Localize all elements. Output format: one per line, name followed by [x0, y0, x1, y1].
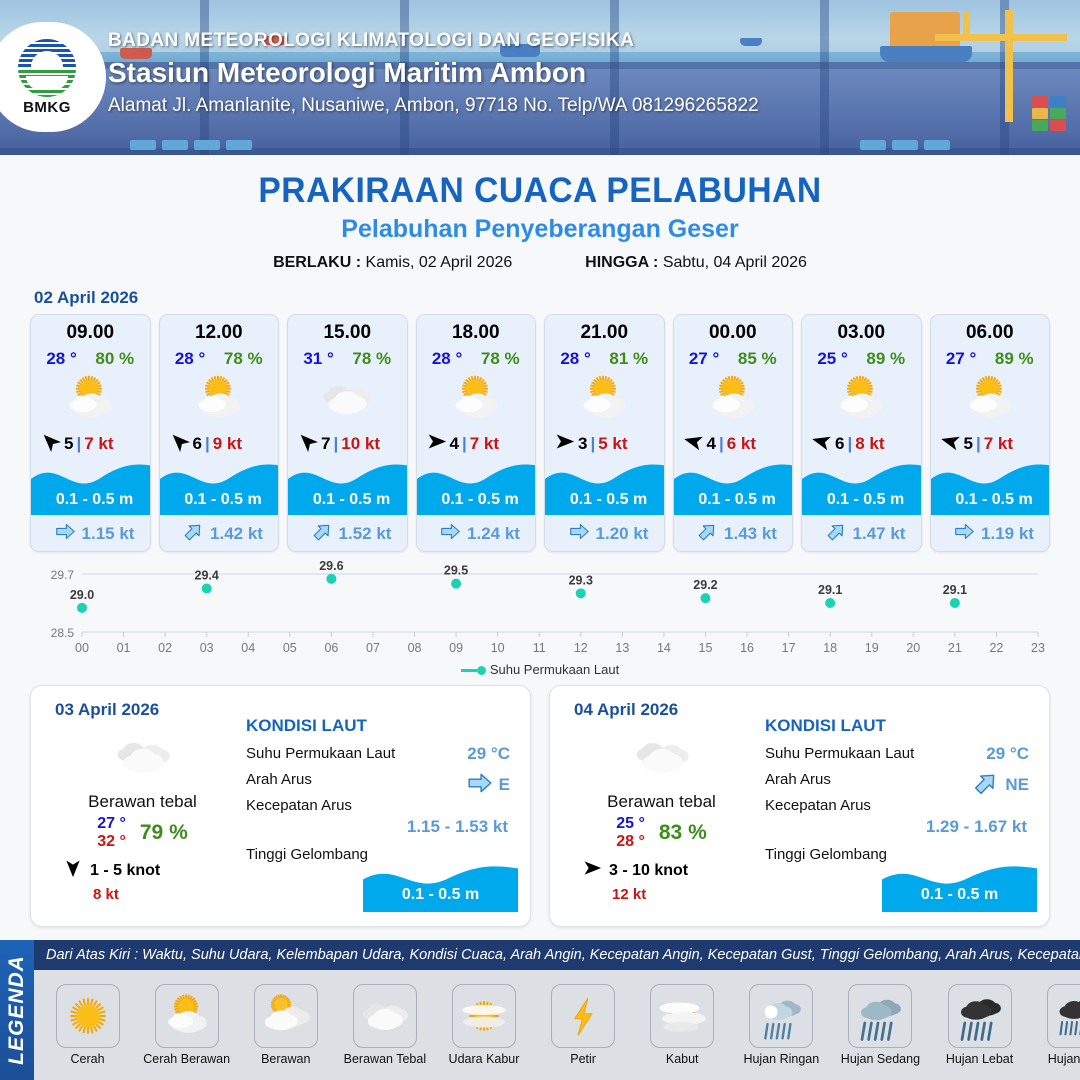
card-temperature: 25 °: [817, 349, 847, 369]
card-separator: |: [205, 434, 210, 454]
sst-label: Suhu Permukaan Laut: [765, 745, 914, 762]
card-wave-block: 0.1 - 0.5 m: [545, 453, 665, 515]
svg-text:11: 11: [533, 641, 546, 655]
current-direction-arrow-icon: [312, 521, 333, 547]
card-current-speed: 1.24 kt: [467, 524, 520, 544]
svg-text:07: 07: [366, 641, 380, 655]
legend-weather-icon: [452, 984, 516, 1048]
svg-text:00: 00: [75, 641, 89, 655]
card-current-speed: 1.43 kt: [724, 524, 777, 544]
card-current-speed: 1.52 kt: [339, 524, 392, 544]
card-humidity: 80 %: [95, 349, 134, 369]
current-direction-arrow-icon: [440, 521, 461, 547]
card-wind-speed: 3: [578, 434, 587, 454]
card-humidity: 78 %: [352, 349, 391, 369]
card-time: 15.00: [288, 322, 407, 344]
hourly-forecast-card: 03.00 25 ° 89 % 6 | 8 kt 0.1 - 0.5 m 1.4…: [801, 314, 922, 552]
legend-note: Dari Atas Kiri : Waktu, Suhu Udara, Kele…: [34, 940, 1080, 970]
day-temp-max: 32 °: [97, 833, 126, 851]
card-current-block: 1.15 kt: [31, 521, 151, 547]
card-separator: |: [333, 434, 338, 454]
card-weather-icon: [674, 371, 793, 427]
card-wave-height: 0.1 - 0.5 m: [31, 491, 151, 509]
svg-text:21: 21: [948, 641, 962, 655]
berlaku-label: BERLAKU :: [273, 254, 361, 271]
card-weather-icon: [931, 371, 1050, 427]
svg-text:01: 01: [117, 641, 131, 655]
svg-text:20: 20: [906, 641, 920, 655]
daily-forecast-panel: 04 April 2026 Berawan tebal 25 ° 28 ° 83…: [549, 685, 1050, 927]
card-wind-speed: 5: [64, 434, 73, 454]
day-weather-icon: [564, 728, 759, 786]
sea-conditions-title: KONDISI LAUT: [246, 716, 516, 736]
legend-item-label: Cerah: [43, 1052, 133, 1066]
day-summary: Berawan tebal 25 ° 28 ° 83 % 3 - 10 knot…: [564, 728, 759, 903]
hingga-label: HINGGA :: [585, 254, 658, 271]
card-current-speed: 1.42 kt: [210, 524, 263, 544]
card-separator: |: [76, 434, 81, 454]
legend-item-label: Kabut: [637, 1052, 727, 1066]
current-direction-arrow-icon: [569, 521, 590, 547]
legend-item: Hujan Sedang: [835, 984, 925, 1066]
forecast-date-label: 02 April 2026: [34, 288, 1080, 308]
sst-value: 29 °C: [986, 744, 1029, 764]
svg-text:29.7: 29.7: [51, 568, 75, 582]
legend-item-label: Petir: [538, 1052, 628, 1066]
sst-chart: 29.728.500010203040506070809101112131415…: [30, 560, 1050, 660]
svg-text:29.3: 29.3: [569, 573, 593, 587]
card-weather-icon: [417, 371, 536, 427]
card-wind-speed: 6: [835, 434, 844, 454]
day-date: 04 April 2026: [574, 700, 678, 720]
card-current-speed: 1.19 kt: [981, 524, 1034, 544]
day-current-direction-arrow-icon: [467, 770, 493, 800]
page-subtitle: Pelabuhan Penyeberangan Geser: [0, 215, 1080, 244]
svg-text:10: 10: [491, 641, 505, 655]
card-wave-height: 0.1 - 0.5 m: [288, 491, 408, 509]
wave-height-label: Tinggi Gelombang: [246, 846, 368, 863]
current-direction-value: E: [499, 775, 510, 795]
bmkg-logo-mark: [18, 39, 76, 97]
sea-conditions-title: KONDISI LAUT: [765, 716, 1035, 736]
daily-forecast-row: 03 April 2026 Berawan tebal 27 ° 32 ° 79…: [0, 677, 1080, 927]
card-weather-icon: [31, 371, 150, 427]
svg-text:29.1: 29.1: [943, 583, 967, 597]
current-direction-arrow-icon: [55, 521, 76, 547]
card-current-speed: 1.47 kt: [853, 524, 906, 544]
card-wave-block: 0.1 - 0.5 m: [417, 453, 537, 515]
svg-text:15: 15: [699, 641, 713, 655]
svg-text:29.2: 29.2: [693, 578, 717, 592]
svg-text:12: 12: [574, 641, 588, 655]
card-current-block: 1.42 kt: [160, 521, 280, 547]
svg-text:19: 19: [865, 641, 879, 655]
legend-bar: LEGENDA Dari Atas Kiri : Waktu, Suhu Uda…: [0, 940, 1080, 1080]
legend-item: Berawan: [241, 984, 331, 1066]
page-header: BMKG BADAN METEOROLOGI KLIMATOLOGI DAN G…: [0, 0, 1080, 155]
day-condition: Berawan tebal: [45, 792, 240, 812]
day-wave-block: 0.1 - 0.5 m: [363, 856, 518, 912]
card-current-block: 1.24 kt: [417, 521, 537, 547]
current-direction-arrow-icon: [183, 521, 204, 547]
legend-item-label: Hujan Sedang: [835, 1052, 925, 1066]
card-wind-speed: 5: [964, 434, 973, 454]
legend-item-label: Hujan Ringan: [736, 1052, 826, 1066]
station-address: Alamat Jl. Amanlanite, Nusaniwe, Ambon, …: [108, 95, 759, 117]
svg-text:13: 13: [615, 641, 629, 655]
legend-item-label: Berawan: [241, 1052, 331, 1066]
card-wave-block: 0.1 - 0.5 m: [931, 453, 1051, 515]
card-humidity: 78 %: [481, 349, 520, 369]
card-gust: 10 kt: [341, 434, 380, 454]
card-wave-block: 0.1 - 0.5 m: [31, 453, 151, 515]
hourly-forecast-card: 18.00 28 ° 78 % 4 | 7 kt 0.1 - 0.5 m 1.2…: [416, 314, 537, 552]
card-separator: |: [847, 434, 852, 454]
sst-chart-legend: Suhu Permukaan Laut: [0, 662, 1080, 677]
svg-text:22: 22: [989, 641, 1003, 655]
card-temperature: 31 °: [303, 349, 333, 369]
svg-text:05: 05: [283, 641, 297, 655]
station-name: Stasiun Meteorologi Maritim Ambon: [108, 57, 759, 89]
agency-name: BADAN METEOROLOGI KLIMATOLOGI DAN GEOFIS…: [108, 30, 759, 52]
day-weather-icon: [45, 728, 240, 786]
svg-text:18: 18: [823, 641, 837, 655]
day-gust: 8 kt: [45, 886, 240, 903]
card-wave-height: 0.1 - 0.5 m: [417, 491, 537, 509]
card-current-block: 1.20 kt: [545, 521, 665, 547]
hourly-forecast-card: 21.00 28 ° 81 % 3 | 5 kt 0.1 - 0.5 m 1.2…: [544, 314, 665, 552]
legend-item: Cerah: [43, 984, 133, 1066]
card-temperature: 28 °: [175, 349, 205, 369]
day-wind-range: 3 - 10 knot: [609, 862, 688, 880]
svg-text:29.4: 29.4: [195, 569, 219, 583]
card-weather-icon: [288, 371, 407, 427]
day-temp-min: 27 °: [97, 815, 126, 833]
legend-item: Hujan Lebat: [935, 984, 1025, 1066]
svg-text:16: 16: [740, 641, 754, 655]
svg-text:28.5: 28.5: [51, 626, 75, 640]
hourly-forecast-row: 09.00 28 ° 80 % 5 | 7 kt 0.1 - 0.5 m 1.1…: [0, 314, 1080, 552]
legend-weather-icon: [353, 984, 417, 1048]
card-wave-height: 0.1 - 0.5 m: [160, 491, 280, 509]
card-temperature: 27 °: [946, 349, 976, 369]
legend-weather-icon: [948, 984, 1012, 1048]
legend-weather-icon: [551, 984, 615, 1048]
svg-text:08: 08: [408, 641, 422, 655]
day-wave-height: 0.1 - 0.5 m: [363, 886, 518, 904]
hingga-value: Sabtu, 04 April 2026: [663, 254, 807, 271]
card-current-speed: 1.20 kt: [596, 524, 649, 544]
current-direction-arrow-icon: [826, 521, 847, 547]
card-weather-icon: [545, 371, 664, 427]
wave-height-label: Tinggi Gelombang: [765, 846, 887, 863]
card-gust: 7 kt: [84, 434, 113, 454]
current-speed-label: Kecepatan Arus: [246, 797, 352, 814]
hourly-forecast-card: 12.00 28 ° 78 % 6 | 9 kt 0.1 - 0.5 m 1.4…: [159, 314, 280, 552]
legend-side-title: LEGENDA: [0, 940, 34, 1080]
card-wave-height: 0.1 - 0.5 m: [545, 491, 665, 509]
card-time: 21.00: [545, 322, 664, 344]
card-current-block: 1.43 kt: [674, 521, 794, 547]
card-separator: |: [462, 434, 467, 454]
svg-text:29.6: 29.6: [319, 560, 343, 573]
legend-item: Berawan Tebal: [340, 984, 430, 1066]
card-time: 18.00: [417, 322, 536, 344]
card-time: 06.00: [931, 322, 1050, 344]
day-current-direction-arrow-icon: [973, 770, 999, 800]
legend-item: Udara Kabur: [439, 984, 529, 1066]
current-direction-label: Arah Arus: [765, 771, 831, 788]
legend-icon-row: Cerah Cerah Berawan Berawan Berawan Teba…: [34, 970, 1080, 1080]
hourly-forecast-card: 06.00 27 ° 89 % 5 | 7 kt 0.1 - 0.5 m 1.1…: [930, 314, 1051, 552]
day-wind-direction-arrow-icon: [582, 858, 602, 883]
sst-chart-svg: 29.728.500010203040506070809101112131415…: [30, 560, 1050, 660]
card-gust: 9 kt: [213, 434, 242, 454]
day-humidity: 83 %: [659, 821, 707, 845]
svg-text:06: 06: [324, 641, 338, 655]
sst-legend-dot: [477, 666, 486, 675]
day-humidity: 79 %: [140, 821, 188, 845]
card-current-block: 1.19 kt: [931, 521, 1051, 547]
svg-text:29.1: 29.1: [818, 583, 842, 597]
hourly-forecast-card: 15.00 31 ° 78 % 7 | 10 kt 0.1 - 0.5 m 1.…: [287, 314, 408, 552]
legend-item: Hujan Petir: [1034, 984, 1080, 1066]
card-temperature: 28 °: [46, 349, 76, 369]
card-humidity: 78 %: [224, 349, 263, 369]
day-summary: Berawan tebal 27 ° 32 ° 79 % 1 - 5 knot …: [45, 728, 240, 903]
card-humidity: 81 %: [609, 349, 648, 369]
card-wave-block: 0.1 - 0.5 m: [674, 453, 794, 515]
svg-text:09: 09: [449, 641, 463, 655]
page-title: PRAKIRAAN CUACA PELABUHAN: [22, 171, 1059, 211]
svg-text:17: 17: [782, 641, 796, 655]
card-wind-speed: 4: [450, 434, 459, 454]
legend-weather-icon: [254, 984, 318, 1048]
card-time: 12.00: [160, 322, 279, 344]
card-current-block: 1.47 kt: [802, 521, 922, 547]
legend-weather-icon: [848, 984, 912, 1048]
card-wave-block: 0.1 - 0.5 m: [802, 453, 922, 515]
legend-item: Petir: [538, 984, 628, 1066]
legend-item-label: Hujan Lebat: [935, 1052, 1025, 1066]
day-wind-direction-arrow-icon: [63, 858, 83, 883]
card-current-speed: 1.15 kt: [82, 524, 135, 544]
card-temperature: 27 °: [689, 349, 719, 369]
sst-value: 29 °C: [467, 744, 510, 764]
card-wave-height: 0.1 - 0.5 m: [674, 491, 794, 509]
svg-text:14: 14: [657, 641, 671, 655]
current-direction-label: Arah Arus: [246, 771, 312, 788]
card-separator: |: [719, 434, 724, 454]
card-weather-icon: [802, 371, 921, 427]
card-gust: 8 kt: [855, 434, 884, 454]
svg-text:23: 23: [1031, 641, 1045, 655]
current-speed-value: 1.29 - 1.67 kt: [765, 817, 1035, 837]
current-speed-value: 1.15 - 1.53 kt: [246, 817, 516, 837]
svg-text:03: 03: [200, 641, 214, 655]
card-wave-block: 0.1 - 0.5 m: [288, 453, 408, 515]
card-time: 09.00: [31, 322, 150, 344]
day-wave-block: 0.1 - 0.5 m: [882, 856, 1037, 912]
card-time: 00.00: [674, 322, 793, 344]
current-direction-arrow-icon: [697, 521, 718, 547]
card-weather-icon: [160, 371, 279, 427]
sst-legend-line: [461, 669, 477, 672]
validity-row: BERLAKU : Kamis, 02 April 2026 HINGGA : …: [0, 254, 1080, 272]
legend-item-label: Berawan Tebal: [340, 1052, 430, 1066]
card-humidity: 89 %: [995, 349, 1034, 369]
day-sea-conditions: KONDISI LAUT Suhu Permukaan Laut 29 °C A…: [246, 716, 516, 863]
card-gust: 7 kt: [470, 434, 499, 454]
legend-item: Hujan Ringan: [736, 984, 826, 1066]
legend-item-label: Cerah Berawan: [142, 1052, 232, 1066]
card-gust: 5 kt: [598, 434, 627, 454]
day-date: 03 April 2026: [55, 700, 159, 720]
legend-item: Kabut: [637, 984, 727, 1066]
legend-weather-icon: [749, 984, 813, 1048]
hourly-forecast-card: 00.00 27 ° 85 % 4 | 6 kt 0.1 - 0.5 m 1.4…: [673, 314, 794, 552]
sst-legend-label: Suhu Permukaan Laut: [490, 662, 619, 677]
card-wave-block: 0.1 - 0.5 m: [160, 453, 280, 515]
card-wind-speed: 6: [193, 434, 202, 454]
sst-label: Suhu Permukaan Laut: [246, 745, 395, 762]
card-wind-speed: 7: [321, 434, 330, 454]
legend-item-label: Udara Kabur: [439, 1052, 529, 1066]
card-gust: 7 kt: [984, 434, 1013, 454]
day-condition: Berawan tebal: [564, 792, 759, 812]
legend-weather-icon: [650, 984, 714, 1048]
legend-weather-icon: [1047, 984, 1080, 1048]
legend-weather-icon: [155, 984, 219, 1048]
bmkg-logo-text: BMKG: [23, 99, 71, 116]
current-direction-value: NE: [1005, 775, 1029, 795]
current-speed-label: Kecepatan Arus: [765, 797, 871, 814]
header-text-block: BADAN METEOROLOGI KLIMATOLOGI DAN GEOFIS…: [108, 30, 759, 117]
card-temperature: 28 °: [560, 349, 590, 369]
legend-item-label: Hujan Petir: [1034, 1052, 1080, 1066]
bmkg-logo: BMKG: [0, 22, 106, 132]
svg-text:29.5: 29.5: [444, 564, 468, 578]
day-gust: 12 kt: [564, 886, 759, 903]
svg-text:29.0: 29.0: [70, 588, 94, 602]
card-current-block: 1.52 kt: [288, 521, 408, 547]
card-time: 03.00: [802, 322, 921, 344]
day-temp-min: 25 °: [616, 815, 645, 833]
current-direction-arrow-icon: [954, 521, 975, 547]
legend-weather-icon: [56, 984, 120, 1048]
day-temp-max: 28 °: [616, 833, 645, 851]
day-sea-conditions: KONDISI LAUT Suhu Permukaan Laut 29 °C A…: [765, 716, 1035, 863]
day-wave-height: 0.1 - 0.5 m: [882, 886, 1037, 904]
card-wind-speed: 4: [707, 434, 716, 454]
card-humidity: 89 %: [866, 349, 905, 369]
card-temperature: 28 °: [432, 349, 462, 369]
card-wave-height: 0.1 - 0.5 m: [931, 491, 1051, 509]
svg-text:02: 02: [158, 641, 172, 655]
daily-forecast-panel: 03 April 2026 Berawan tebal 27 ° 32 ° 79…: [30, 685, 531, 927]
berlaku-value: Kamis, 02 April 2026: [366, 254, 513, 271]
hourly-forecast-card: 09.00 28 ° 80 % 5 | 7 kt 0.1 - 0.5 m 1.1…: [30, 314, 151, 552]
card-gust: 6 kt: [727, 434, 756, 454]
card-wave-height: 0.1 - 0.5 m: [802, 491, 922, 509]
title-block: PRAKIRAAN CUACA PELABUHAN Pelabuhan Peny…: [0, 171, 1080, 272]
card-separator: |: [590, 434, 595, 454]
svg-text:04: 04: [241, 641, 255, 655]
card-humidity: 85 %: [738, 349, 777, 369]
day-wind-range: 1 - 5 knot: [90, 862, 160, 880]
legend-item: Cerah Berawan: [142, 984, 232, 1066]
card-separator: |: [976, 434, 981, 454]
